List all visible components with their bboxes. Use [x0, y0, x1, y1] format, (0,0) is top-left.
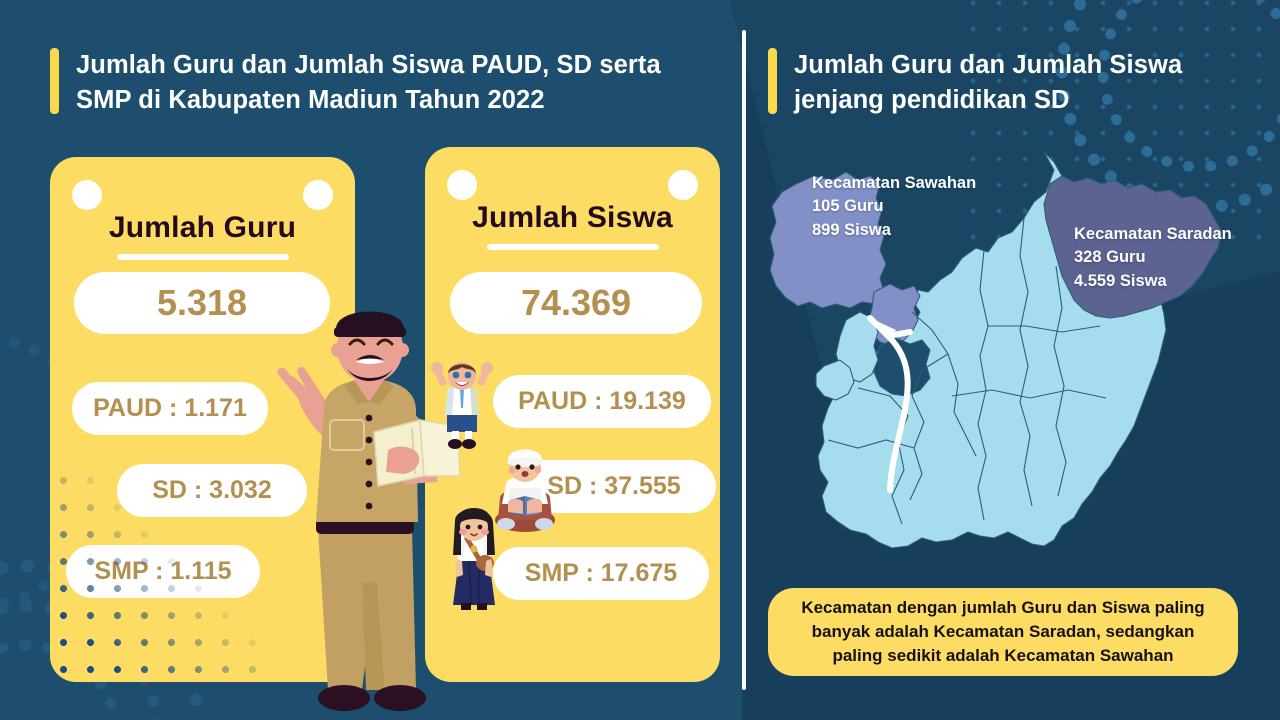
- right-panel-title: Jumlah Guru dan Jumlah Siswa jenjang pen…: [768, 48, 1182, 117]
- card-siswa-row-smp: SMP : 17.675: [493, 547, 709, 600]
- map-caption-box: Kecamatan dengan jumlah Guru dan Siswa p…: [768, 588, 1238, 676]
- title-accent-bar: [50, 48, 59, 114]
- card-punch-hole-right: [303, 180, 333, 210]
- right-title-text: Jumlah Guru dan Jumlah Siswa jenjang pen…: [794, 48, 1182, 117]
- left-panel-title: Jumlah Guru dan Jumlah Siswa PAUD, SD se…: [50, 48, 661, 117]
- vertical-divider: [742, 30, 746, 690]
- map-region-west-lobe-2: [816, 360, 854, 400]
- student-paud-illustration: [430, 358, 494, 450]
- student-smp-illustration: [443, 505, 505, 613]
- card-punch-hole-left: [72, 180, 102, 210]
- card-siswa-row-paud: PAUD : 19.139: [493, 375, 711, 428]
- title-accent-bar: [768, 48, 777, 114]
- map-region-enclave: [874, 338, 930, 396]
- map-label-saradan: Kecamatan Saradan 328 Guru 4.559 Siswa: [1074, 223, 1232, 293]
- card-heading-underline: [117, 254, 289, 260]
- card-guru-heading: Jumlah Guru: [50, 211, 355, 245]
- card-siswa-total-value: 74.369: [450, 272, 702, 334]
- card-guru-row-paud: PAUD : 1.171: [72, 382, 268, 435]
- card-siswa-heading: Jumlah Siswa: [425, 201, 720, 235]
- map-label-sawahan: Kecamatan Sawahan 105 Guru 899 Siswa: [812, 172, 976, 242]
- map-caption-text: Kecamatan dengan jumlah Guru dan Siswa p…: [801, 596, 1204, 667]
- left-title-text: Jumlah Guru dan Jumlah Siswa PAUD, SD se…: [76, 48, 661, 117]
- card-guru-row-smp: SMP : 1.115: [66, 545, 260, 598]
- card-punch-hole-right: [668, 170, 698, 200]
- card-heading-underline: [487, 244, 659, 250]
- card-punch-hole-left: [447, 170, 477, 200]
- infographic-canvas: Jumlah Guru dan Jumlah Siswa PAUD, SD se…: [0, 0, 1280, 720]
